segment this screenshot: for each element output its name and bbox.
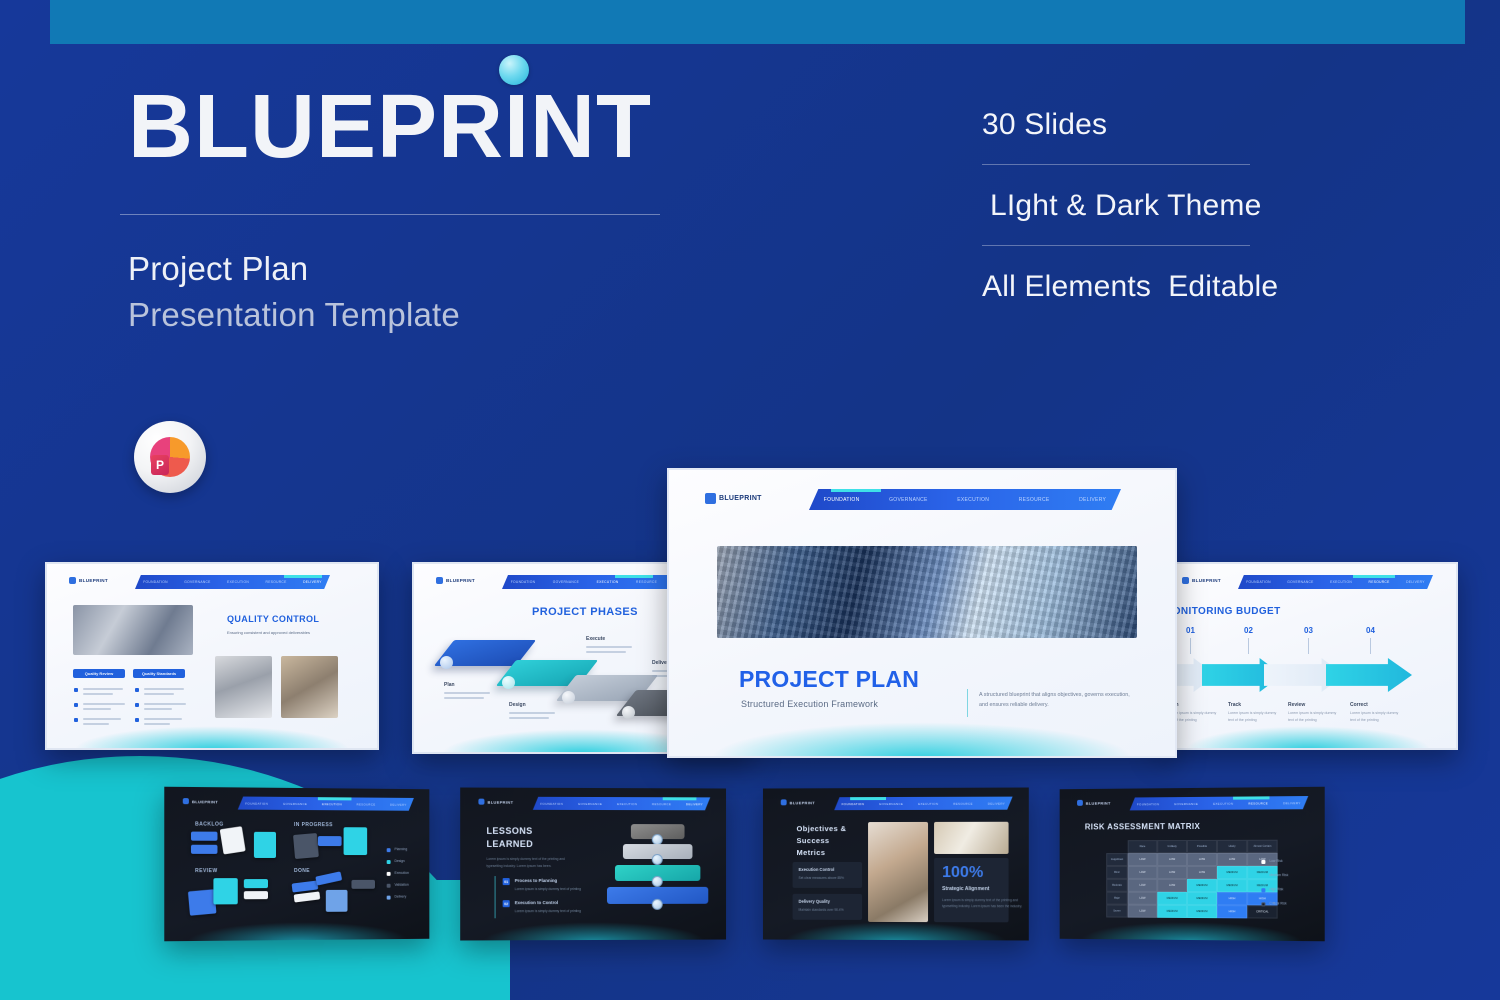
legend-dot-medium <box>1261 874 1265 878</box>
pyramid-node-1 <box>652 899 663 910</box>
risk-cell[interactable]: LOW <box>1217 853 1247 866</box>
kanban-column-review: REVIEW <box>195 868 218 874</box>
step-tick <box>1190 638 1191 654</box>
risk-row-header: Insignificant <box>1106 853 1128 866</box>
nav-tab-foundation[interactable]: FOUNDATION <box>143 580 168 584</box>
phase-label-plan: Plan <box>444 682 455 688</box>
nav-tab-resource[interactable]: RESOURCE <box>356 802 375 806</box>
nav-active-underline <box>1233 796 1269 799</box>
quality-review-button[interactable]: Quality Review <box>73 669 125 678</box>
nav-tab-resource[interactable]: RESOURCE <box>1248 801 1268 805</box>
nav-active-underline <box>663 797 697 800</box>
risk-col-header: Unlikely <box>1157 840 1187 853</box>
logo-text: BLUEPRINT <box>719 495 762 502</box>
nav-tab-delivery[interactable]: DELIVERY <box>1283 801 1301 805</box>
risk-row-header: Major <box>1106 892 1128 905</box>
slide-nav[interactable]: FOUNDATION GOVERNANCE EXECUTION RESOURCE… <box>135 575 330 589</box>
phase-cap-deliver <box>622 706 635 719</box>
nav-tab-resource[interactable]: RESOURCE <box>636 580 657 584</box>
title-divider <box>120 214 660 215</box>
slide-logo: BLUEPRINT <box>1182 577 1221 584</box>
nav-tab-execution[interactable]: EXECUTION <box>617 802 637 806</box>
risk-cell[interactable]: LOW <box>1157 853 1187 866</box>
risk-col-header: Possible <box>1187 840 1217 853</box>
risk-cell[interactable]: HIGH <box>1217 892 1247 905</box>
feature-item-editable: All Elements Editable <box>960 270 1400 304</box>
nav-tab-delivery[interactable]: DELIVERY <box>686 802 703 806</box>
pyramid-node-2 <box>652 876 663 887</box>
kanban-card[interactable] <box>188 889 217 916</box>
feature-label: All Elements Editable <box>960 270 1400 304</box>
nav-tab-governance[interactable]: GOVERNANCE <box>283 801 307 805</box>
bullet-text <box>144 718 182 720</box>
presenter-photo <box>215 656 272 718</box>
nav-tab-resource[interactable]: RESOURCE <box>953 801 973 805</box>
legend-dot <box>387 872 391 876</box>
slide-glow <box>1184 726 1433 750</box>
bullet-text <box>144 703 186 705</box>
logo-text: BLUEPRINT <box>446 578 475 583</box>
feature-divider <box>982 245 1250 246</box>
legend-label-planning: Planning <box>394 847 407 851</box>
step-label-track: Track <box>1228 702 1241 708</box>
risk-cell[interactable]: MEDIUM <box>1217 866 1247 879</box>
legend-dot-low <box>1261 860 1265 864</box>
risk-col-header: Rare <box>1128 840 1158 853</box>
phase-body-design <box>509 712 555 714</box>
nav-tab-foundation[interactable]: FOUNDATION <box>824 497 860 503</box>
metric-card-body: Maintain standards over 90.4% <box>799 908 844 912</box>
legend-label-low: Low Risk <box>1269 859 1282 863</box>
risk-cell[interactable]: LOW <box>1128 905 1158 918</box>
legend-dot-critical <box>1261 902 1265 906</box>
item-body-01: Lorem ipsum is simply dummy text of prin… <box>515 887 585 891</box>
nav-tab-foundation[interactable]: FOUNDATION <box>1246 580 1271 584</box>
metric-card-body: Set clear measures above 85% <box>799 876 844 880</box>
risk-cell[interactable]: LOW <box>1187 866 1217 879</box>
slide-title-line2: LEARNED <box>486 839 533 849</box>
kanban-card[interactable] <box>351 880 375 889</box>
logo-text: BLUEPRINT <box>1086 800 1111 805</box>
risk-cell[interactable]: LOW <box>1187 853 1217 866</box>
nav-tab-resource[interactable]: RESOURCE <box>266 580 287 584</box>
nav-tab-governance[interactable]: GOVERNANCE <box>879 801 903 805</box>
slide-glow <box>482 921 705 940</box>
step-label-review: Review <box>1288 702 1305 708</box>
slide-body-text: A structured blueprint that aligns objec… <box>979 690 1139 711</box>
step-body-review: Lorem ipsum is simply dummy text of the … <box>1288 710 1338 724</box>
nav-tab-execution[interactable]: EXECUTION <box>1330 580 1352 584</box>
legend-dot-high <box>1261 888 1265 892</box>
nav-tab-governance[interactable]: GOVERNANCE <box>553 580 579 584</box>
kanban-column-backlog: BACKLOG <box>195 821 224 827</box>
nav-active-underline <box>284 575 322 578</box>
phase-body-execute <box>586 651 626 653</box>
metric-card-title: Delivery Quality <box>799 899 830 904</box>
slide-subtitle: Ensuring consistent and approved deliver… <box>227 630 310 635</box>
risk-cell[interactable]: LOW <box>1128 879 1158 892</box>
bullet-icon <box>135 688 139 692</box>
slide-title-line1: LESSONS <box>486 826 532 836</box>
legend-label-medium: Medium Risk <box>1269 873 1288 877</box>
logo-text: BLUEPRINT <box>79 578 108 583</box>
bullet-text <box>144 723 170 725</box>
risk-cell[interactable]: MEDIUM <box>1157 905 1187 918</box>
slide-thumbnail-monitoring-budget[interactable]: BLUEPRINT FOUNDATION GOVERNANCE EXECUTIO… <box>1158 562 1458 750</box>
bullet-text <box>83 718 121 720</box>
item-title-01: Process to Planning <box>515 878 557 883</box>
kanban-column-done: DONE <box>294 868 310 874</box>
bullet-text <box>83 703 125 705</box>
metric-card-title: Execution Control <box>799 867 835 872</box>
step-number-02: 02 <box>1244 626 1253 635</box>
powerpoint-letter: P <box>151 455 169 475</box>
bullet-text <box>83 708 111 710</box>
logo-text: BLUEPRINT <box>192 799 218 804</box>
quality-standards-button[interactable]: Quality Standards <box>133 669 185 678</box>
item-title-02: Execution to Control <box>515 900 558 905</box>
kanban-card[interactable] <box>244 891 268 899</box>
nav-tab-governance[interactable]: GOVERNANCE <box>1287 580 1313 584</box>
legend-label-execution: Execution <box>394 871 408 875</box>
legend-dot <box>387 860 391 864</box>
slide-logo: BLUEPRINT <box>436 577 475 584</box>
legend-label-high: High Risk <box>1269 887 1283 891</box>
nav-tab-execution[interactable]: EXECUTION <box>957 497 989 503</box>
legend-label-delivery: Delivery <box>394 895 406 899</box>
nav-tab-foundation[interactable]: FOUNDATION <box>511 580 536 584</box>
step-tick <box>1370 638 1371 654</box>
nav-tab-resource[interactable]: RESOURCE <box>1369 580 1390 584</box>
nav-tab-governance[interactable]: GOVERNANCE <box>889 497 928 503</box>
slide-subtitle: Structured Execution Framework <box>741 699 878 709</box>
nav-tab-foundation[interactable]: FOUNDATION <box>1137 802 1159 806</box>
risk-row-header: Minor <box>1106 866 1128 879</box>
nav-tab-delivery[interactable]: DELIVERY <box>303 580 322 584</box>
logo-text: BLUEPRINT <box>1192 578 1221 583</box>
nav-tab-delivery[interactable]: DELIVERY <box>988 801 1005 805</box>
kanban-card[interactable] <box>191 845 218 854</box>
kanban-card[interactable] <box>213 878 237 904</box>
step-tick <box>1308 638 1309 654</box>
slide-logo: BLUEPRINT <box>478 799 513 805</box>
team-meeting-photo <box>281 656 338 718</box>
slide-nav[interactable]: FOUNDATION GOVERNANCE EXECUTION RESOURCE… <box>533 797 710 811</box>
slide-title: QUALITY CONTROL <box>227 614 319 624</box>
bullet-text <box>83 723 109 725</box>
slide-title: RISK ASSESSMENT MATRIX <box>1085 822 1200 831</box>
logo-text: BLUEPRINT <box>790 800 815 805</box>
slide-thumbnail-objectives[interactable]: BLUEPRINT FOUNDATION GOVERNANCE EXECUTIO… <box>763 787 1029 940</box>
slide-thumbnail-quality-control[interactable]: BLUEPRINT FOUNDATION GOVERNANCE EXECUTIO… <box>45 562 379 750</box>
slide-glow <box>709 722 1134 758</box>
slide-nav[interactable]: FOUNDATION GOVERNANCE EXECUTION RESOURCE… <box>1130 796 1309 810</box>
step-number-03: 03 <box>1304 626 1313 635</box>
risk-cell[interactable]: MEDIUM <box>1187 905 1217 918</box>
body-divider <box>967 689 968 717</box>
slide-logo: BLUEPRINT <box>781 799 815 805</box>
nav-active-underline <box>318 797 352 800</box>
legend-label-critical: Critical Risk <box>1269 901 1286 905</box>
slide-thumbnail-lessons-learned[interactable]: BLUEPRINT FOUNDATION GOVERNANCE EXECUTIO… <box>460 787 726 940</box>
kanban-card[interactable] <box>292 880 319 892</box>
slide-title: MONITORING BUDGET <box>1164 606 1281 617</box>
slide-glow <box>186 921 409 941</box>
slide-nav[interactable]: FOUNDATION GOVERNANCE EXECUTION RESOURCE… <box>1238 575 1433 589</box>
risk-row-header: Moderate <box>1106 879 1128 892</box>
risk-cell[interactable]: LOW <box>1128 866 1158 879</box>
step-tick <box>1248 638 1249 654</box>
slide-title-line3: Metrics <box>797 848 826 857</box>
risk-cell[interactable]: LOW <box>1157 879 1187 892</box>
risk-cell[interactable]: LOW <box>1128 853 1158 866</box>
feature-item-theme: LIght & Dark Theme <box>960 189 1400 223</box>
risk-cell[interactable]: MEDIUM <box>1217 879 1247 892</box>
nav-tab-foundation[interactable]: FOUNDATION <box>245 801 268 805</box>
risk-col-header: Likely <box>1217 840 1247 853</box>
kanban-card[interactable] <box>254 832 276 858</box>
logo-text: BLUEPRINT <box>488 799 514 804</box>
feature-divider <box>982 164 1250 165</box>
kanban-card[interactable] <box>293 833 319 859</box>
slide-logo: BLUEPRINT <box>183 798 218 804</box>
risk-cell[interactable]: LOW <box>1128 892 1158 905</box>
legend-label-validation: Validation <box>394 883 408 887</box>
logo-mark-icon <box>1077 800 1083 806</box>
step-number-04: 04 <box>1366 626 1375 635</box>
kanban-card[interactable] <box>244 879 268 888</box>
legend-dot <box>387 848 391 852</box>
legend-dot <box>387 896 391 900</box>
logo-mark-icon <box>478 799 484 805</box>
nav-tab-governance[interactable]: GOVERNANCE <box>578 801 602 805</box>
phase-body-plan <box>444 697 484 699</box>
nav-tab-execution[interactable]: EXECUTION <box>1213 801 1233 805</box>
bullet-icon <box>74 688 78 692</box>
phase-label-design: Design <box>509 702 526 708</box>
logo-mark-icon <box>705 493 716 504</box>
team-workshop-photo <box>73 605 193 655</box>
bullet-text <box>83 693 113 695</box>
kanban-card[interactable] <box>191 832 218 841</box>
arrow-step-04 <box>1326 658 1412 692</box>
legend-label-design: Design <box>394 859 404 863</box>
risk-row-header: Severe <box>1106 905 1128 918</box>
risk-col-header: Almost Certain <box>1247 840 1277 853</box>
item-number-02: 02 <box>503 900 510 907</box>
logo-mark-icon <box>436 577 443 584</box>
kanban-card[interactable] <box>315 871 342 885</box>
legend-dot <box>387 884 391 888</box>
bullet-text <box>144 688 184 690</box>
phase-body-plan <box>444 692 490 694</box>
risk-cell[interactable]: MEDIUM <box>1157 892 1187 905</box>
nav-tab-execution[interactable]: EXECUTION <box>597 580 619 584</box>
nav-tab-resource[interactable]: RESOURCE <box>652 802 671 806</box>
kanban-card[interactable] <box>318 836 342 846</box>
logo-mark-icon <box>183 798 189 804</box>
nav-tab-delivery[interactable]: DELIVERY <box>390 802 407 806</box>
nav-tab-execution[interactable]: EXECUTION <box>227 580 249 584</box>
bullet-text <box>83 688 123 690</box>
logo-mark-icon <box>69 577 76 584</box>
risk-cell[interactable]: MEDIUM <box>1187 879 1217 892</box>
hero-image-office-towers <box>717 546 1137 638</box>
nav-tab-foundation[interactable]: FOUNDATION <box>540 801 563 805</box>
risk-cell[interactable]: HIGH <box>1217 905 1247 918</box>
nav-active-underline <box>615 575 653 578</box>
slide-nav[interactable]: FOUNDATION GOVERNANCE EXECUTION RESOURCE… <box>834 797 1012 811</box>
metric-value: 100% <box>942 864 983 882</box>
kanban-card[interactable] <box>294 891 321 902</box>
powerpoint-icon: P <box>134 421 206 493</box>
nav-tab-governance[interactable]: GOVERNANCE <box>1174 801 1198 805</box>
kanban-column-inprogress: IN PROGRESS <box>294 822 333 828</box>
pyramid-node-3 <box>652 854 663 865</box>
slide-glow <box>73 726 350 750</box>
kanban-card[interactable] <box>326 890 348 912</box>
slide-thumbnail-kanban[interactable]: BLUEPRINT FOUNDATION GOVERNANCE EXECUTIO… <box>164 787 429 942</box>
slide-title-line1: Objectives & <box>797 824 847 833</box>
powerpoint-glyph: P <box>150 437 190 477</box>
subtitle-primary: Project Plan <box>128 250 308 288</box>
logo-mark-icon <box>1182 577 1189 584</box>
phase-body-design <box>509 717 549 719</box>
slide-featured-project-plan[interactable]: BLUEPRINT FOUNDATION GOVERNANCE EXECUTIO… <box>667 468 1177 758</box>
metric-label: Strategic Alignment <box>942 886 989 892</box>
slide-glow <box>1080 921 1303 941</box>
item-number-01: 01 <box>503 878 510 885</box>
step-label-correct: Correct <box>1350 702 1368 708</box>
nav-active-underline <box>1353 575 1395 578</box>
risk-cell[interactable]: CRITICAL <box>1247 905 1277 918</box>
slide-nav[interactable]: FOUNDATION GOVERNANCE EXECUTION RESOURCE… <box>238 796 414 810</box>
bullet-icon <box>74 718 78 722</box>
item-body-02: Lorem ipsum is simply dummy text of prin… <box>515 909 585 913</box>
nav-tab-governance[interactable]: GOVERNANCE <box>184 580 210 584</box>
bullet-text <box>144 693 174 695</box>
slide-logo: BLUEPRINT <box>1077 800 1111 806</box>
subtitle-secondary: Presentation Template <box>128 296 460 334</box>
slide-thumbnail-risk-matrix[interactable]: BLUEPRINT FOUNDATION GOVERNANCE EXECUTIO… <box>1060 787 1325 942</box>
feature-label: LIght & Dark Theme <box>960 189 1400 223</box>
slide-logo: BLUEPRINT <box>69 577 108 584</box>
feature-item-slides: 30 Slides <box>960 108 1400 142</box>
feature-list: 30 Slides LIght & Dark Theme All Element… <box>960 108 1400 304</box>
nav-active-underline <box>831 489 881 492</box>
logo-mark-icon <box>781 799 787 805</box>
slide-title: PROJECT PHASES <box>532 606 638 618</box>
nav-tab-foundation[interactable]: FOUNDATION <box>842 802 865 806</box>
metric-body: Lorem ipsum is simply dummy text of the … <box>942 897 1029 910</box>
team-photo <box>868 822 928 922</box>
slide-body-text: Lorem ipsum is simply dummy text of the … <box>486 856 572 869</box>
kanban-card[interactable] <box>344 827 368 855</box>
nav-tab-execution[interactable]: EXECUTION <box>322 802 342 806</box>
phase-body-execute <box>586 646 632 648</box>
nav-tab-resource[interactable]: RESOURCE <box>1019 497 1050 503</box>
nav-active-underline <box>850 797 886 800</box>
hero-image-texture <box>717 546 1137 638</box>
phase-cap-design <box>502 676 515 689</box>
bullet-icon <box>135 703 139 707</box>
risk-cell[interactable]: MEDIUM <box>1187 892 1217 905</box>
nav-tab-delivery[interactable]: DELIVERY <box>1406 580 1425 584</box>
phase-label-execute: Execute <box>586 636 605 642</box>
phase-cap-execute <box>562 691 575 704</box>
phase-cap-plan <box>440 656 453 669</box>
step-body-track: Lorem ipsum is simply dummy text of the … <box>1228 710 1278 724</box>
bullet-text <box>144 708 172 710</box>
bullet-icon <box>74 703 78 707</box>
slide-nav[interactable]: FOUNDATION GOVERNANCE EXECUTION RESOURCE… <box>809 489 1121 510</box>
step-body-correct: Lorem ipsum is simply dummy text of the … <box>1350 710 1400 724</box>
documents-photo <box>934 822 1009 854</box>
slide-glow <box>784 921 1007 940</box>
bullet-icon <box>135 718 139 722</box>
slide-logo: BLUEPRINT <box>705 493 762 504</box>
slide-title: PROJECT PLAN <box>739 666 919 693</box>
risk-cell[interactable]: LOW <box>1157 866 1187 879</box>
slide-title-line2: Success <box>797 836 830 845</box>
nav-tab-delivery[interactable]: DELIVERY <box>1079 497 1106 503</box>
feature-label: 30 Slides <box>960 108 1400 142</box>
hero-section: BLUEPRINT Project Plan Presentation Temp… <box>0 0 1500 520</box>
items-divider <box>495 876 496 918</box>
page-title: BLUEPRINT <box>128 82 652 172</box>
step-number-01: 01 <box>1186 626 1195 635</box>
kanban-card[interactable] <box>220 826 246 854</box>
nav-tab-execution[interactable]: EXECUTION <box>918 801 938 805</box>
